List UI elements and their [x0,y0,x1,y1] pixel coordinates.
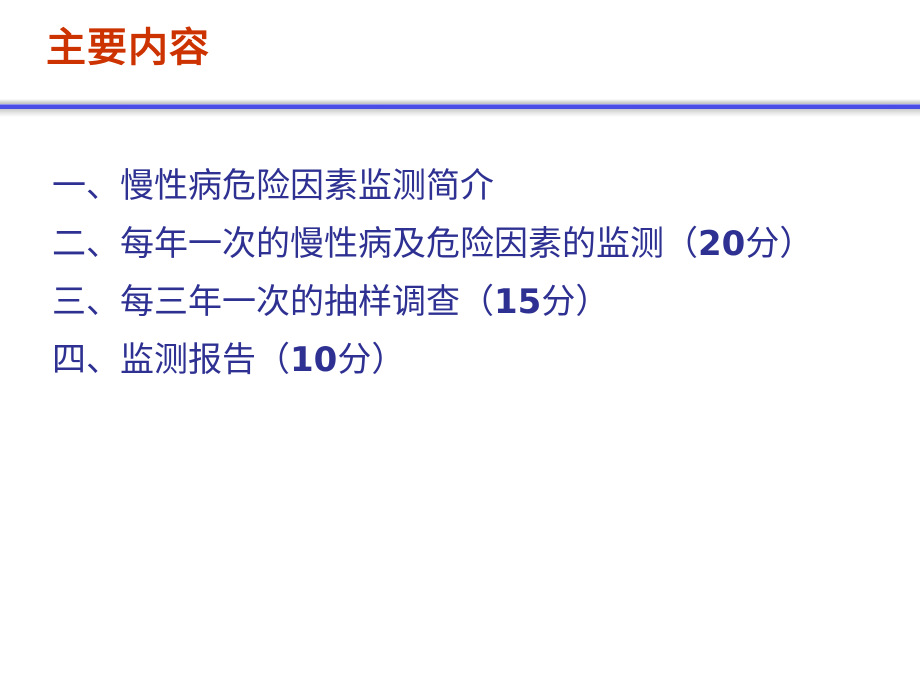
list-item-tail: 分） [541,282,609,322]
slide-canvas: 主要内容 一、慢性病危险因素监测简介 二、每年一次的慢性病及危险因素的监测（20… [0,0,920,690]
list-item-tail: 分） [745,224,813,264]
outline-list: 一、慢性病危险因素监测简介 二、每年一次的慢性病及危险因素的监测（20分） 三、… [52,158,862,390]
list-item-marker: 四、 [52,340,120,380]
list-item-marker: 三、 [52,282,120,322]
list-item-score: 15 [494,282,541,322]
divider-bottom-shade [0,109,920,117]
list-item: 二、每年一次的慢性病及危险因素的监测（20分） [52,216,862,272]
list-item-marker: 二、 [52,224,120,264]
list-item-score: 10 [290,340,337,380]
list-item-text: 每三年一次的抽样调查（ [120,282,494,322]
list-item-marker: 一、 [52,166,120,206]
title-divider [0,99,920,117]
list-item: 四、监测报告（10分） [52,332,862,388]
list-item-score: 20 [698,224,745,264]
list-item-tail: 分） [337,340,405,380]
page-title: 主要内容 [46,22,210,74]
list-item-text: 监测报告（ [120,340,290,380]
list-item: 三、每三年一次的抽样调查（15分） [52,274,862,330]
divider-line-highlight [0,104,920,105]
list-item-text: 慢性病危险因素监测简介 [120,166,494,206]
list-item-text: 每年一次的慢性病及危险因素的监测（ [120,224,698,264]
list-item: 一、慢性病危险因素监测简介 [52,158,862,214]
